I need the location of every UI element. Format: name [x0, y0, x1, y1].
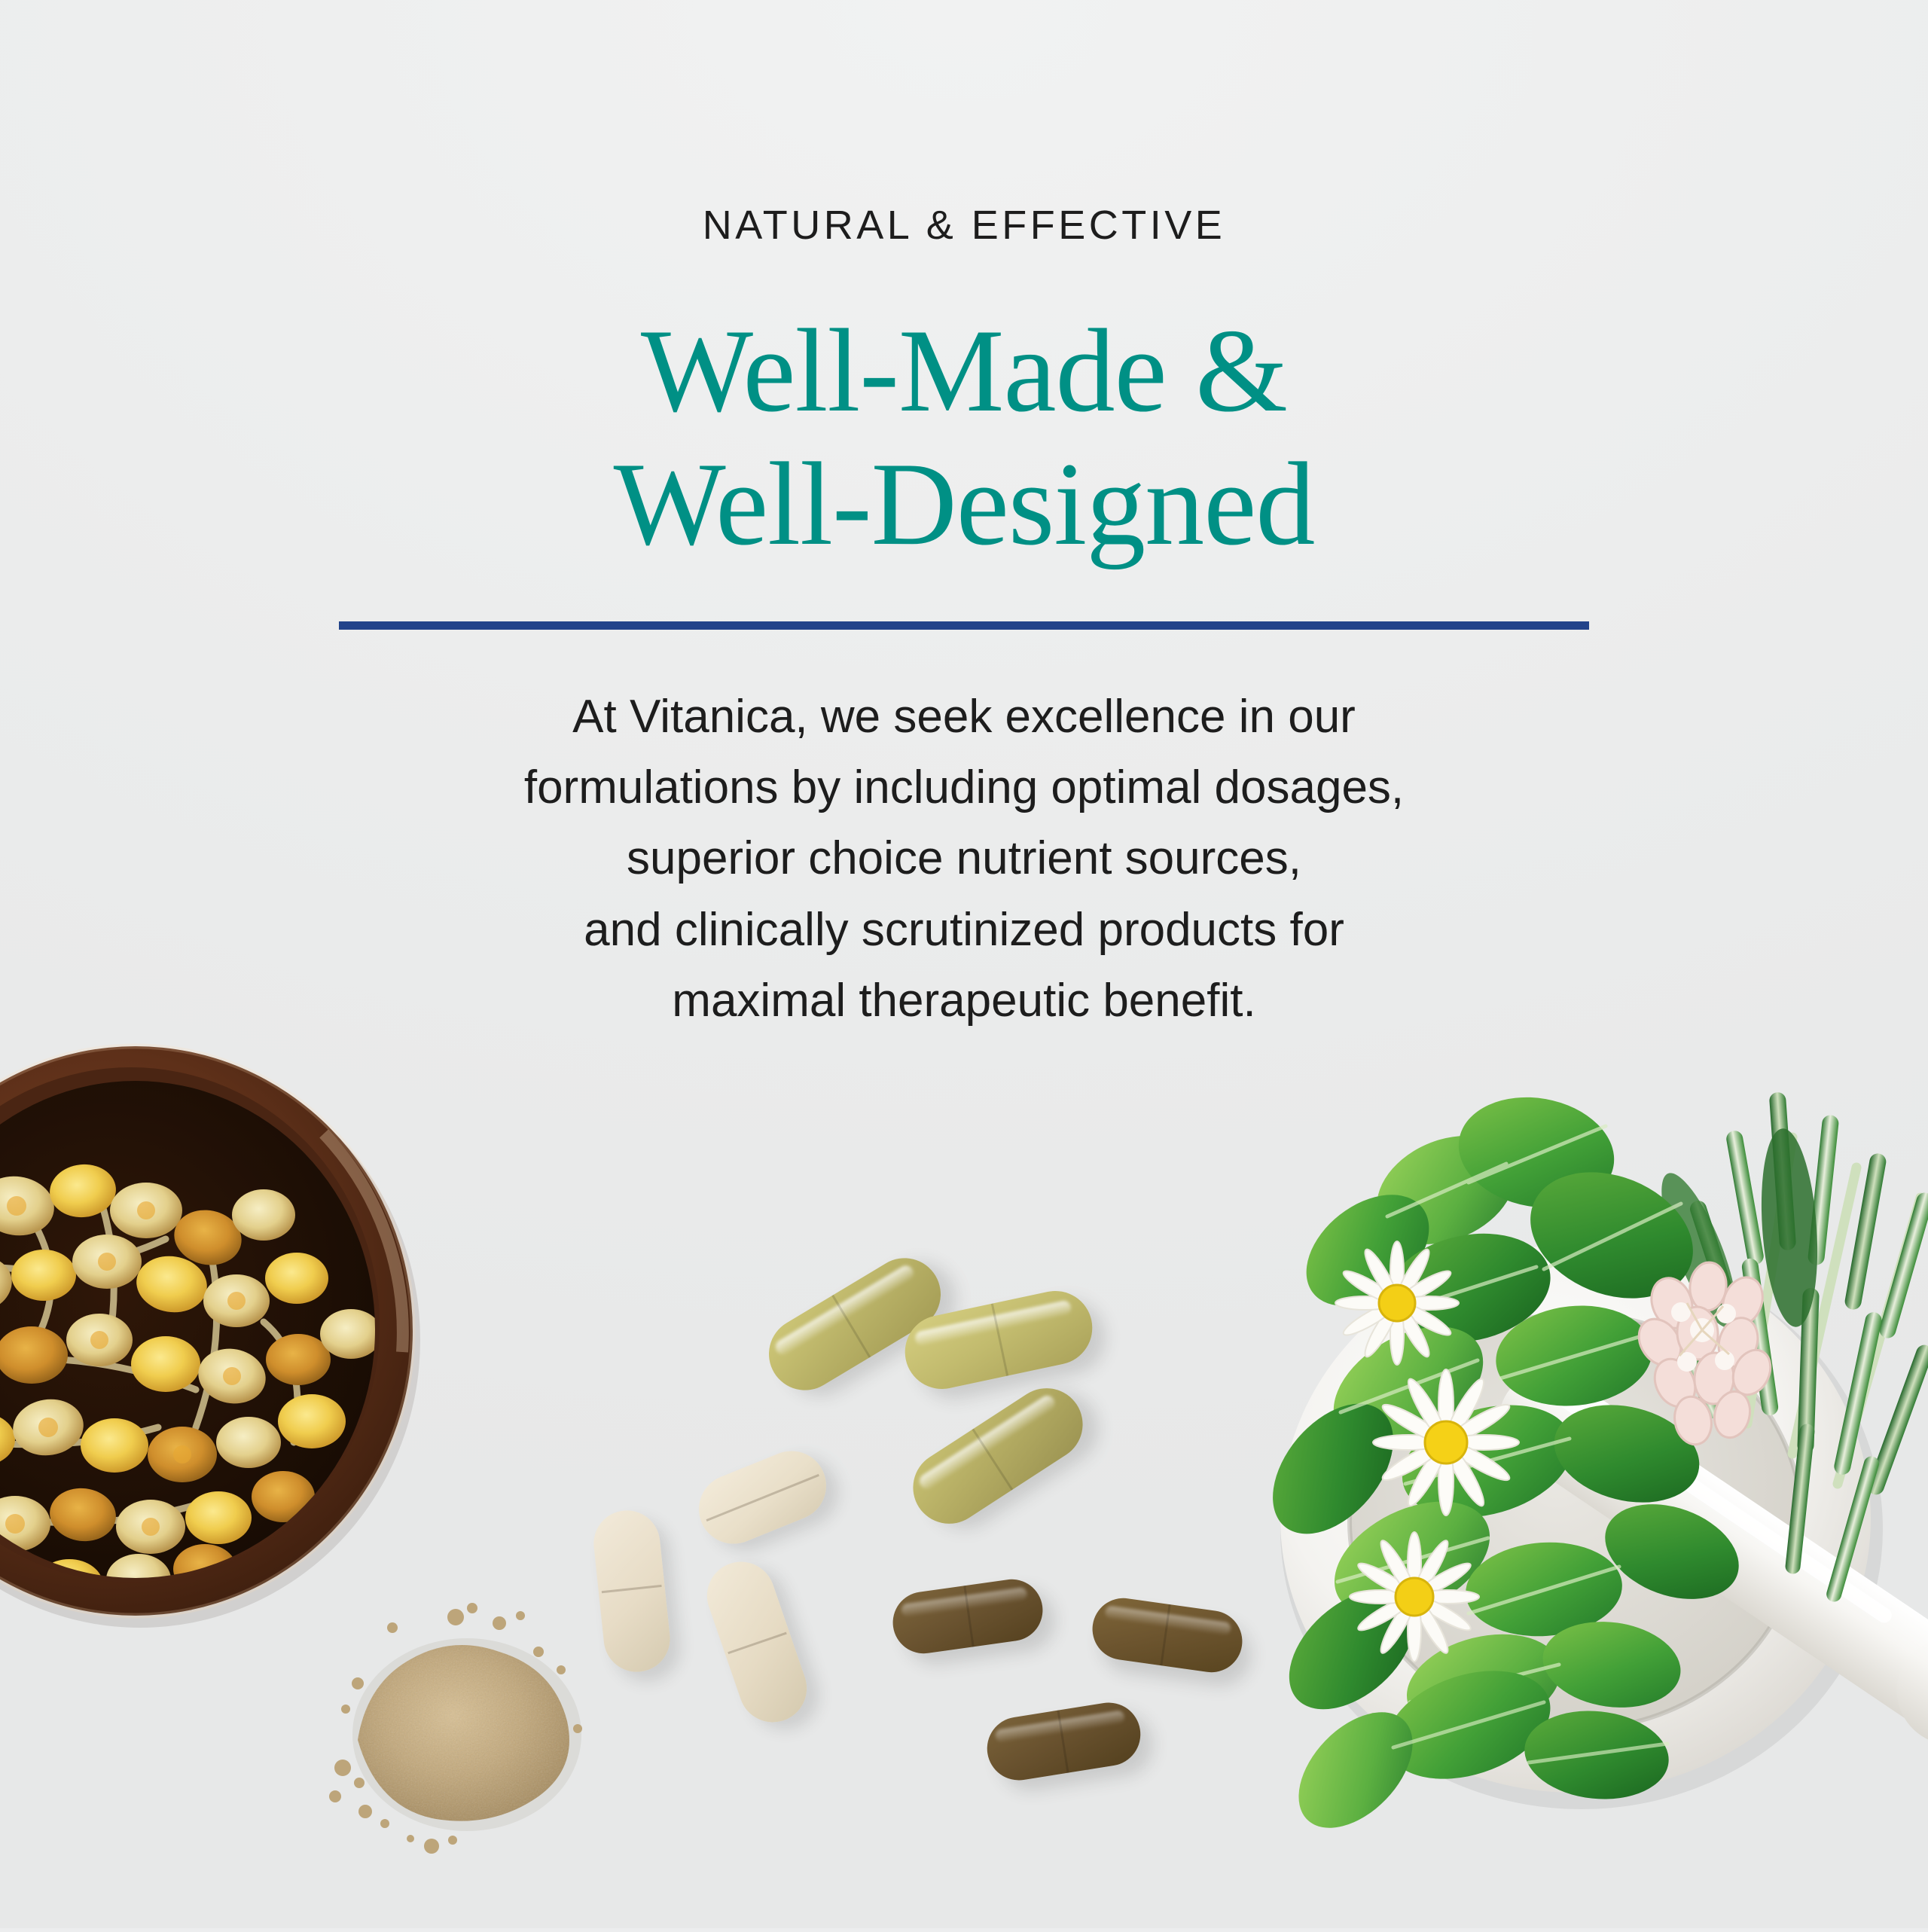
herbal-powder-mound	[313, 1570, 614, 1872]
capsule-olive-3	[899, 1375, 1097, 1538]
eyebrow-text: NATURAL & EFFECTIVE	[0, 202, 1928, 249]
headline-line-2: Well-Designed	[0, 438, 1928, 572]
capsule-brown-1	[889, 1575, 1046, 1657]
hero-banner: NATURAL & EFFECTIVE Well-Made & Well-Des…	[0, 0, 1928, 1928]
body-line: formulations by including optimal dosage…	[0, 752, 1928, 823]
tablet-cream-1	[688, 1441, 837, 1555]
headline-line-1: Well-Made &	[641, 305, 1287, 437]
capsule-brown-3	[983, 1698, 1146, 1784]
product-photography	[0, 1002, 1928, 1928]
divider-rule	[339, 621, 1589, 630]
mortar-and-pestle	[1220, 1002, 1928, 1928]
tablet-cream-3	[698, 1552, 816, 1731]
body-line: superior choice nutrient sources,	[0, 823, 1928, 894]
body-line: At Vitanica, we seek excellence in our	[0, 682, 1928, 752]
body-line: and clinically scrutinized products for	[0, 895, 1928, 966]
body-paragraph: At Vitanica, we seek excellence in our f…	[0, 682, 1928, 1036]
dried-chamomile-bowl	[0, 1036, 459, 1631]
page-title: Well-Made & Well-Designed	[0, 305, 1928, 572]
